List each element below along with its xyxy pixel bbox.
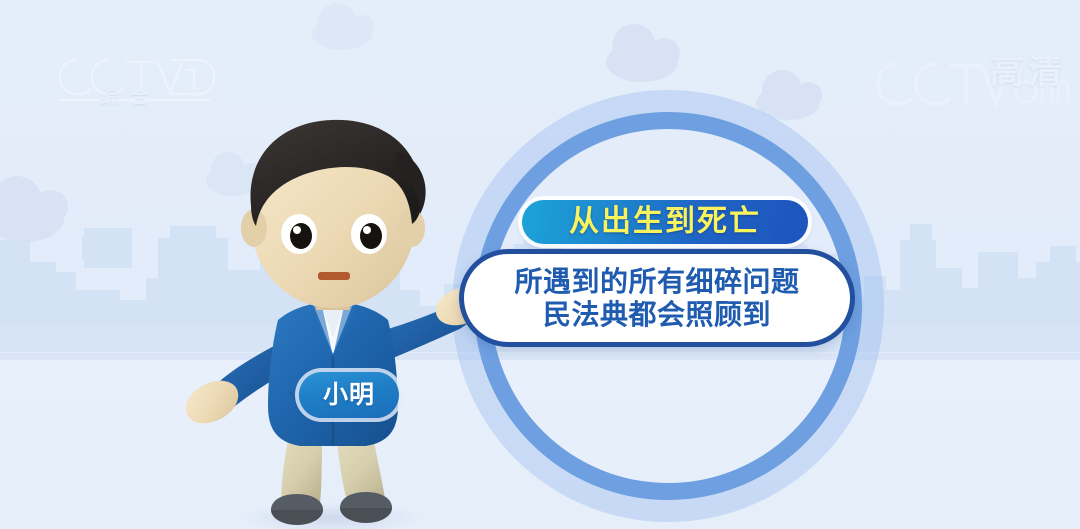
hd-watermark-text: 高清 [990,44,1066,93]
callout-body-line-2: 民法典都会照顾到 [543,299,771,330]
callout-body-line-1: 所遇到的所有细碎问题 [514,266,799,297]
broadcast-frame: 小明 从出生到死亡 所遇到的所有细碎问题 民法典都会照顾到 综合 [0,0,1080,529]
cctv-channel-subtitle: 综合 [70,82,190,109]
callout-title-text: 从出生到死亡 [569,207,761,237]
character-name-text: 小明 [323,383,375,408]
cloud-icon [312,18,372,50]
callout-title-pill: 从出生到死亡 [522,200,808,244]
callout-speech-bubble: 所遇到的所有细碎问题 民法典都会照顾到 [459,249,855,347]
cartoon-character-xiaoming [150,110,510,529]
cloud-icon [606,42,678,82]
character-name-badge: 小明 [299,372,399,418]
